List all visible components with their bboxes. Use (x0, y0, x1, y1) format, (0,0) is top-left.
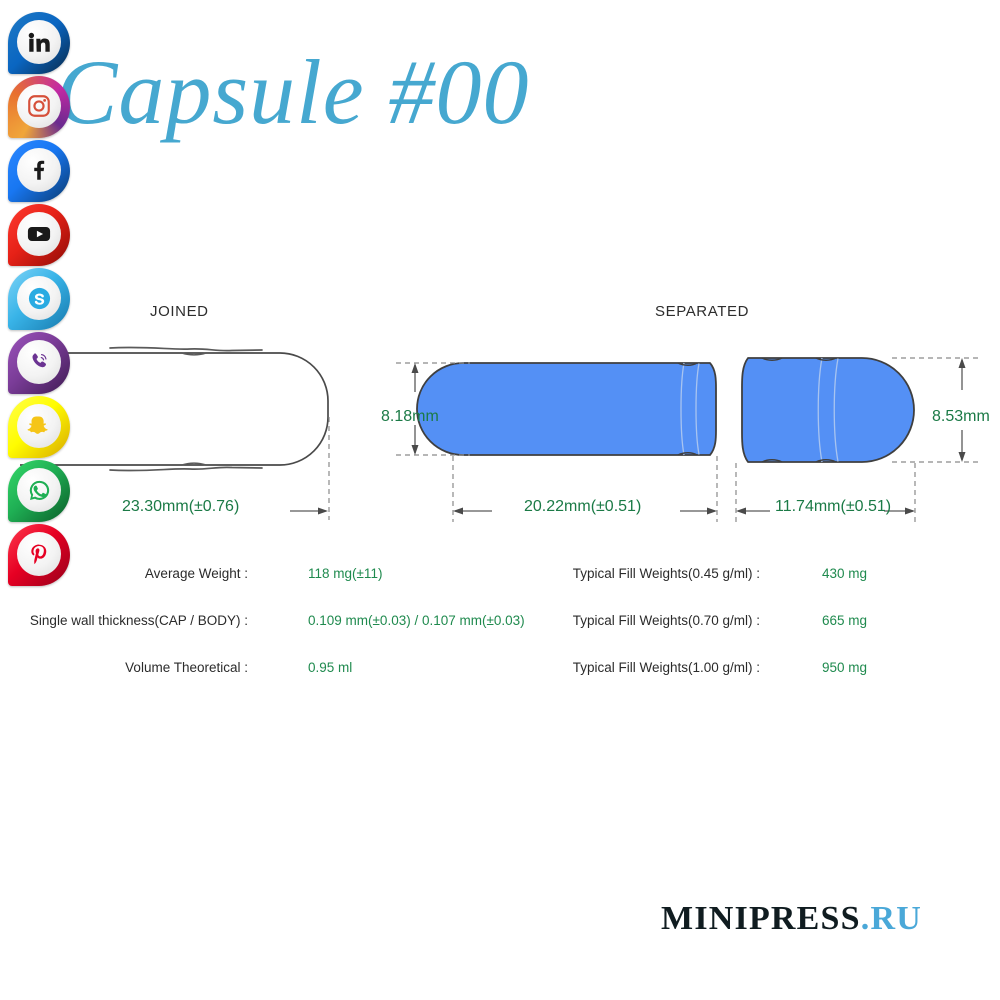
spec-row: Average Weight : 118 mg(±11) (0, 565, 545, 612)
viber-icon (17, 340, 61, 384)
brand-name: MINIPRESS (661, 900, 861, 937)
youtube-icon (17, 212, 61, 256)
spec-label: Typical Fill Weights(1.00 g/ml) : (545, 659, 760, 677)
spec-table-left: Average Weight : 118 mg(±11) Single wall… (0, 565, 545, 706)
social-button-youtube[interactable] (8, 204, 70, 266)
dimension-label-joined-length: 23.30mm(±0.76) (122, 498, 239, 516)
social-button-linkedin[interactable] (8, 12, 70, 74)
social-share-rail (8, 12, 74, 588)
spec-row: Volume Theoretical : 0.95 ml (0, 659, 545, 706)
spec-table-right: Typical Fill Weights(0.45 g/ml) : 430 mg… (545, 565, 1000, 706)
spec-value: 0.95 ml (308, 659, 352, 677)
skype-icon (17, 276, 61, 320)
whatsapp-icon (17, 468, 61, 512)
spec-row: Typical Fill Weights(0.70 g/ml) : 665 mg (545, 612, 1000, 659)
spec-value: 950 mg (822, 659, 867, 677)
pinterest-icon (17, 532, 61, 576)
page-title: Capsule #00 (56, 46, 530, 138)
spec-row: Typical Fill Weights(1.00 g/ml) : 950 mg (545, 659, 1000, 706)
capsule-technical-drawing: JOINED SEPARATED (0, 270, 1000, 550)
dimension-label-body-length: 20.22mm(±0.51) (524, 498, 641, 516)
spec-row: Typical Fill Weights(0.45 g/ml) : 430 mg (545, 565, 1000, 612)
social-button-facebook[interactable] (8, 140, 70, 202)
social-button-snapchat[interactable] (8, 396, 70, 458)
dimension-label-cap-length: 11.74mm(±0.51) (775, 498, 891, 516)
spec-label: Single wall thickness(CAP / BODY) : (0, 612, 248, 630)
spec-label: Volume Theoretical : (0, 659, 248, 677)
social-button-viber[interactable] (8, 332, 70, 394)
spec-label: Typical Fill Weights(0.45 g/ml) : (545, 565, 760, 583)
spec-row: Single wall thickness(CAP / BODY) : 0.10… (0, 612, 545, 659)
dimension-label-body-height: 8.18mm (381, 408, 439, 426)
spec-label: Typical Fill Weights(0.70 g/ml) : (545, 612, 760, 630)
social-button-whatsapp[interactable] (8, 460, 70, 522)
spec-value: 430 mg (822, 565, 867, 583)
snapchat-icon (17, 404, 61, 448)
brand-wordmark: MINIPRESS.RU (661, 900, 922, 938)
spec-value: 118 mg(±11) (308, 565, 382, 583)
dimension-label-cap-height: 8.53mm (932, 408, 990, 426)
social-button-instagram[interactable] (8, 76, 70, 138)
spec-value: 665 mg (822, 612, 867, 630)
facebook-icon (17, 148, 61, 192)
social-button-skype[interactable] (8, 268, 70, 330)
separated-body-shape (417, 363, 716, 455)
linkedin-icon (17, 20, 61, 64)
spec-value: 0.109 mm(±0.03) / 0.107 mm(±0.03) (308, 612, 525, 630)
instagram-icon (17, 84, 61, 128)
separated-cap-shape (742, 358, 914, 462)
brand-tld: .RU (861, 900, 922, 937)
social-button-pinterest[interactable] (8, 524, 70, 586)
